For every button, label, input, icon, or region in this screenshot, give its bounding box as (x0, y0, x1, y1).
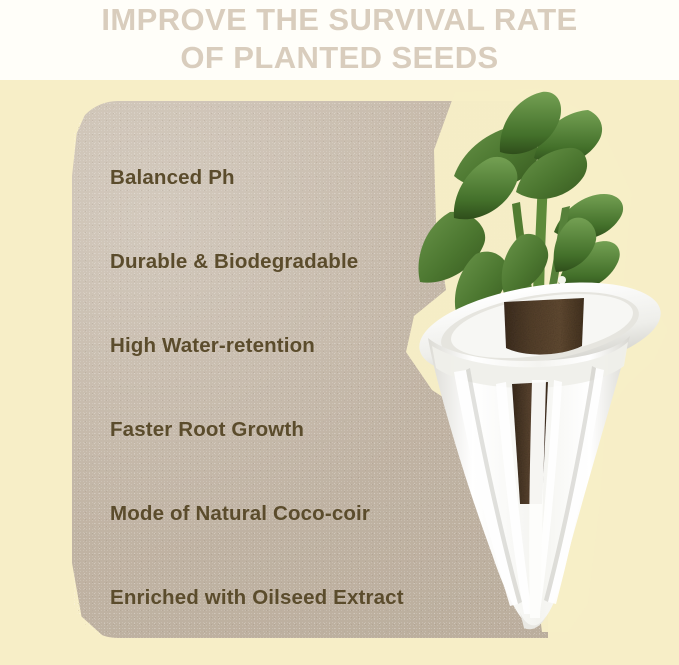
product-photo: Green seedling growing in a coco-coir so… (392, 84, 679, 635)
page-title: IMPROVE THE SURVIVAL RATE OF PLANTED SEE… (0, 1, 679, 77)
coco-coir-soil-plug-inner (504, 298, 584, 355)
infographic-root: Balanced Ph Durable & Biodegradable High… (0, 0, 679, 665)
